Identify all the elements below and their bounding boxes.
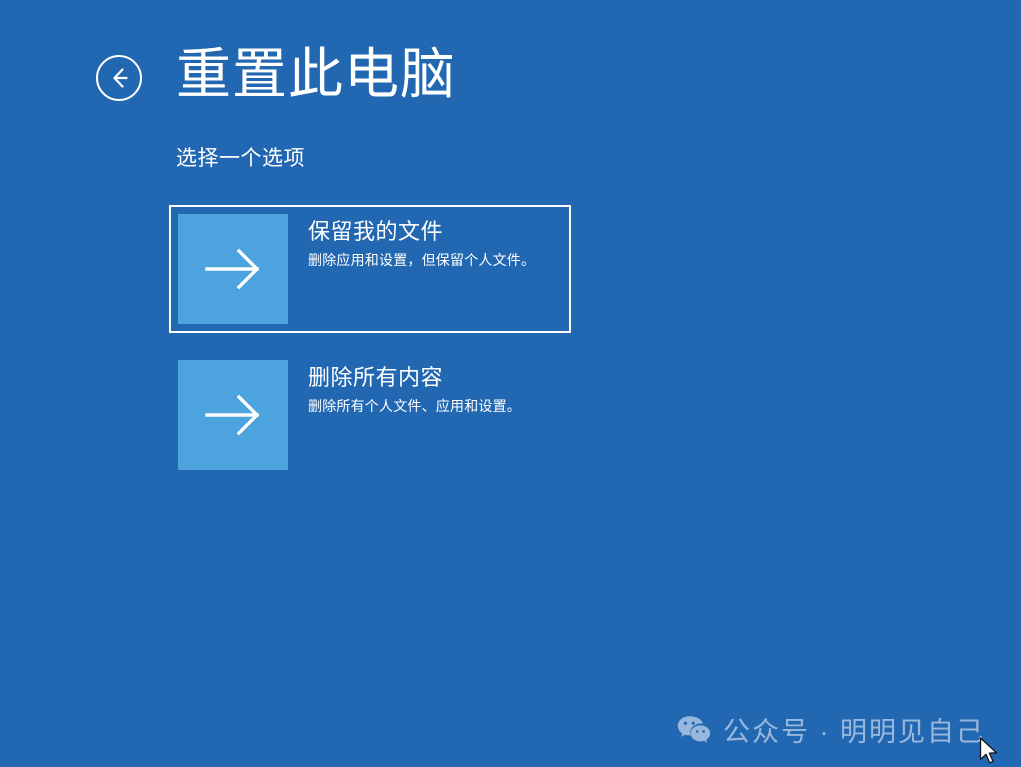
arrow-right-icon xyxy=(201,391,265,439)
option-keep-my-files[interactable]: 保留我的文件 删除应用和设置，但保留个人文件。 xyxy=(169,205,571,333)
watermark-text: 公众号 · 明明见自己 xyxy=(723,710,985,749)
option-icon-tile xyxy=(178,360,288,470)
page-subtitle: 选择一个选项 xyxy=(176,142,305,172)
option-text-block: 保留我的文件 删除应用和设置，但保留个人文件。 xyxy=(288,214,535,269)
option-title: 删除所有内容 xyxy=(308,364,521,392)
page-header: 重置此电脑 xyxy=(96,46,456,104)
option-list: 保留我的文件 删除应用和设置，但保留个人文件。 删除所有内容 删除所有个人文件、… xyxy=(169,205,589,479)
arrow-right-icon xyxy=(201,245,265,293)
wechat-icon xyxy=(677,715,711,745)
page-title: 重置此电脑 xyxy=(176,46,456,104)
back-arrow-circle-icon[interactable] xyxy=(96,55,142,101)
option-title: 保留我的文件 xyxy=(308,218,535,246)
option-text-block: 删除所有内容 删除所有个人文件、应用和设置。 xyxy=(288,360,521,415)
option-remove-everything[interactable]: 删除所有内容 删除所有个人文件、应用和设置。 xyxy=(169,351,571,479)
option-description: 删除应用和设置，但保留个人文件。 xyxy=(308,251,535,270)
option-icon-tile xyxy=(178,214,288,324)
reset-this-pc-screen: 重置此电脑 选择一个选项 保留我的文件 删除应用和设置，但保留个人文件。 xyxy=(0,0,1021,767)
watermark: 公众号 · 明明见自己 xyxy=(677,710,985,749)
option-description: 删除所有个人文件、应用和设置。 xyxy=(308,397,521,416)
